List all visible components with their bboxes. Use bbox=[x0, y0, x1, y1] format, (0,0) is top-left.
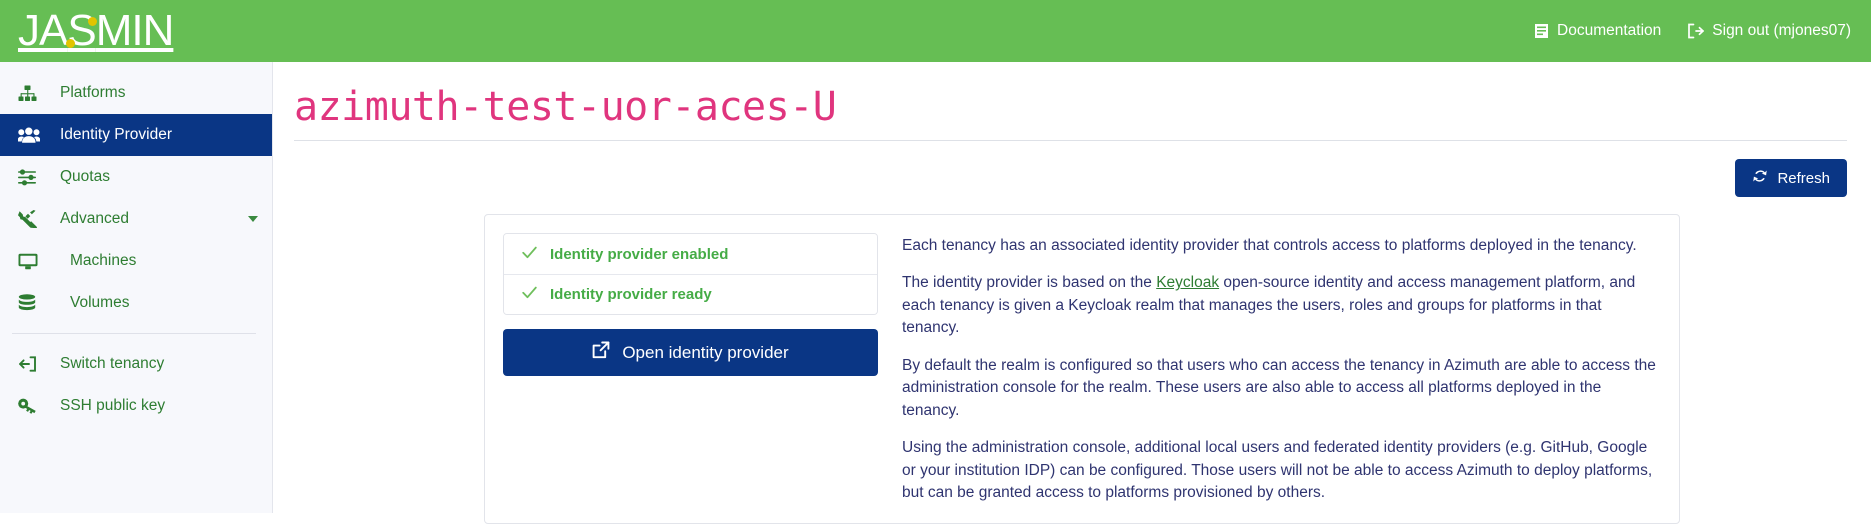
status-list: Identity provider enabled Identity provi… bbox=[503, 233, 878, 315]
key-icon bbox=[18, 398, 48, 415]
refresh-label: Refresh bbox=[1777, 170, 1830, 187]
paragraph-3: By default the realm is configured so th… bbox=[902, 355, 1661, 422]
sidebar-label-advanced: Advanced bbox=[60, 210, 129, 228]
sidebar-item-quotas[interactable]: Quotas bbox=[0, 156, 272, 198]
logo-text-min: MIN bbox=[96, 9, 174, 53]
external-link-icon bbox=[592, 341, 610, 364]
paragraph-1: Each tenancy has an associated identity … bbox=[902, 235, 1661, 257]
sliders-icon bbox=[18, 169, 48, 186]
sidebar-item-switch-tenancy[interactable]: Switch tenancy bbox=[0, 343, 272, 385]
page-title: azimuth-test-uor-aces-U bbox=[284, 62, 1847, 140]
open-identity-provider-button[interactable]: Open identity provider bbox=[503, 329, 878, 376]
toolbar: Refresh bbox=[284, 141, 1847, 197]
chevron-down-icon[interactable] bbox=[248, 216, 258, 222]
sidebar-label-identity-provider: Identity Provider bbox=[60, 126, 172, 144]
sidebar-label-ssh-public-key: SSH public key bbox=[60, 397, 165, 415]
paragraph-2-before: The identity provider is based on the bbox=[902, 274, 1156, 291]
sign-out-link[interactable]: Sign out (mjones07) bbox=[1687, 22, 1851, 40]
logo-dot-top-icon bbox=[88, 17, 97, 26]
sidebar-item-machines[interactable]: Machines bbox=[0, 240, 272, 282]
status-row-ready: Identity provider ready bbox=[504, 274, 877, 314]
status-column: Identity provider enabled Identity provi… bbox=[503, 233, 878, 376]
sidebar-divider bbox=[12, 333, 256, 334]
users-icon bbox=[18, 127, 48, 143]
sign-out-icon bbox=[1687, 23, 1704, 39]
refresh-icon bbox=[1752, 168, 1768, 188]
sidebar-item-platforms[interactable]: Platforms bbox=[0, 72, 272, 114]
keycloak-link[interactable]: Keycloak bbox=[1156, 274, 1219, 291]
top-nav: Documentation Sign out (mjones07) bbox=[1534, 22, 1851, 40]
sign-in-icon bbox=[18, 356, 48, 372]
sidebar-label-switch-tenancy: Switch tenancy bbox=[60, 355, 164, 373]
logo-text-s-wrap: S bbox=[67, 9, 95, 53]
main-content: azimuth-test-uor-aces-U Refresh bbox=[274, 62, 1871, 513]
sidebar-label-quotas: Quotas bbox=[60, 168, 110, 186]
desktop-icon bbox=[18, 253, 48, 270]
sidebar: Platforms Identity Provider bbox=[0, 62, 273, 513]
sidebar-label-machines: Machines bbox=[70, 252, 136, 270]
identity-provider-panel: Identity provider enabled Identity provi… bbox=[484, 214, 1680, 524]
top-header-bar: JA S MIN Documentation bbox=[0, 0, 1871, 62]
refresh-button[interactable]: Refresh bbox=[1735, 159, 1847, 197]
check-icon bbox=[522, 286, 537, 303]
sidebar-item-ssh-public-key[interactable]: SSH public key bbox=[0, 385, 272, 427]
status-label-ready: Identity provider ready bbox=[550, 286, 712, 303]
description-column: Each tenancy has an associated identity … bbox=[902, 233, 1661, 505]
logo-text-ja: JA bbox=[18, 9, 67, 53]
check-icon bbox=[522, 246, 537, 263]
sidebar-label-platforms: Platforms bbox=[60, 84, 125, 102]
tools-icon bbox=[18, 210, 48, 228]
status-label-enabled: Identity provider enabled bbox=[550, 246, 728, 263]
paragraph-2: The identity provider is based on the Ke… bbox=[902, 272, 1661, 339]
paragraph-4: Using the administration console, additi… bbox=[902, 437, 1661, 504]
documentation-label: Documentation bbox=[1557, 22, 1661, 40]
open-identity-provider-label: Open identity provider bbox=[622, 343, 788, 363]
sidebar-item-identity-provider[interactable]: Identity Provider bbox=[0, 114, 272, 156]
sitemap-icon bbox=[18, 85, 48, 102]
book-icon bbox=[1534, 23, 1549, 39]
status-row-enabled: Identity provider enabled bbox=[504, 234, 877, 274]
sign-out-label: Sign out (mjones07) bbox=[1712, 22, 1851, 40]
database-icon bbox=[18, 294, 48, 312]
sidebar-label-volumes: Volumes bbox=[70, 294, 129, 312]
jasmin-logo[interactable]: JA S MIN bbox=[18, 9, 173, 53]
documentation-link[interactable]: Documentation bbox=[1534, 22, 1661, 40]
sidebar-item-volumes[interactable]: Volumes bbox=[0, 282, 272, 324]
sidebar-item-advanced[interactable]: Advanced bbox=[0, 198, 272, 240]
